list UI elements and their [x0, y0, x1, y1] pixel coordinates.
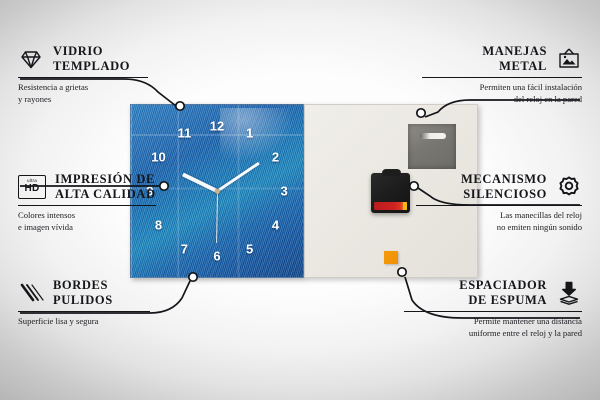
silent-mechanism-description: Las manecillas del reloj no emiten ningú… — [416, 210, 582, 233]
clock-second-hand — [216, 191, 218, 243]
foam-spacer-title-2: DE ESPUMA — [468, 293, 547, 307]
feature-polished-edges: BORDES PULIDOS Superficie lisa y segura — [18, 278, 150, 328]
clock-hour-hand — [182, 173, 218, 193]
diagonal-stripes-icon — [18, 280, 44, 306]
tempered-glass-rule — [18, 77, 148, 79]
foam-spacer-description: Permite mantener una distancia uniforme … — [404, 316, 582, 339]
clock-number-3: 3 — [280, 185, 287, 198]
tempered-glass-description: Resistencia a grietas y rayones — [18, 82, 148, 105]
clock-number-7: 7 — [181, 242, 188, 255]
metal-handles-title-2: METAL — [499, 59, 547, 73]
badge-hd-text: HD — [24, 184, 39, 194]
battery — [374, 202, 407, 210]
clock-minute-hand — [216, 162, 259, 192]
framed-picture-icon — [556, 46, 582, 72]
polished-edges-title-2: PULIDOS — [53, 293, 113, 307]
ultra-hd-badge-icon: ultra HD — [18, 175, 46, 199]
foam-spacer-rule — [404, 311, 582, 313]
polished-edges-title-1: BORDES — [53, 278, 108, 292]
clock-number-2: 2 — [272, 150, 279, 163]
foam-spacer-title-1: ESPACIADOR — [459, 278, 547, 292]
hanger-slot — [420, 133, 446, 139]
silent-mechanism-rule — [416, 205, 582, 207]
foam-spacer — [384, 251, 398, 264]
silent-mechanism-title-1: MECANISMO — [461, 172, 547, 186]
clock-number-1: 1 — [246, 127, 253, 140]
hd-print-description: Colores intensos e imagen vívida — [18, 210, 156, 233]
hd-print-rule — [18, 205, 156, 207]
clock-number-4: 4 — [272, 219, 279, 232]
hd-print-title-2: ALTA CALIDAD — [55, 187, 156, 201]
feature-metal-handles: MANEJAS METAL Permiten una fácil instala… — [422, 44, 582, 105]
feature-foam-spacer: ESPACIADOR DE ESPUMA Permite mantener un… — [404, 278, 582, 339]
tempered-glass-title-2: TEMPLADO — [53, 59, 130, 73]
feature-silent-mechanism: MECANISMO SILENCIOSO Las manecillas del … — [416, 172, 582, 233]
metal-handles-title-1: MANEJAS — [482, 44, 547, 58]
clock-number-12: 12 — [210, 119, 224, 132]
metal-hanger-plate — [408, 124, 456, 169]
polished-edges-rule — [18, 311, 150, 313]
silent-mechanism-title-2: SILENCIOSO — [463, 187, 547, 201]
hd-print-title-1: IMPRESIÓN DE — [55, 172, 155, 186]
mechanism-hook — [382, 169, 401, 176]
clock-number-5: 5 — [246, 242, 253, 255]
clock-mechanism — [371, 173, 410, 213]
metal-handles-description: Permiten una fácil instalación del reloj… — [422, 82, 582, 105]
feature-hd-print: ultra HD IMPRESIÓN DE ALTA CALIDAD Color… — [18, 172, 156, 233]
clock-front-panel: 12 1 2 3 4 5 6 7 8 9 10 11 — [130, 104, 304, 278]
gear-icon — [556, 174, 582, 200]
product-infographic: 12 1 2 3 4 5 6 7 8 9 10 11 — [0, 0, 600, 400]
clock-number-10: 10 — [151, 150, 165, 163]
polished-edges-description: Superficie lisa y segura — [18, 316, 150, 328]
diamond-icon — [18, 46, 44, 72]
clock-number-6: 6 — [213, 250, 220, 263]
arrow-down-layers-icon — [556, 280, 582, 306]
clock-number-11: 11 — [177, 127, 191, 140]
feature-tempered-glass: VIDRIO TEMPLADO Resistencia a grietas y … — [18, 44, 148, 105]
metal-handles-rule — [422, 77, 582, 79]
tempered-glass-title-1: VIDRIO — [53, 44, 103, 58]
clock-center-cap — [215, 189, 220, 194]
